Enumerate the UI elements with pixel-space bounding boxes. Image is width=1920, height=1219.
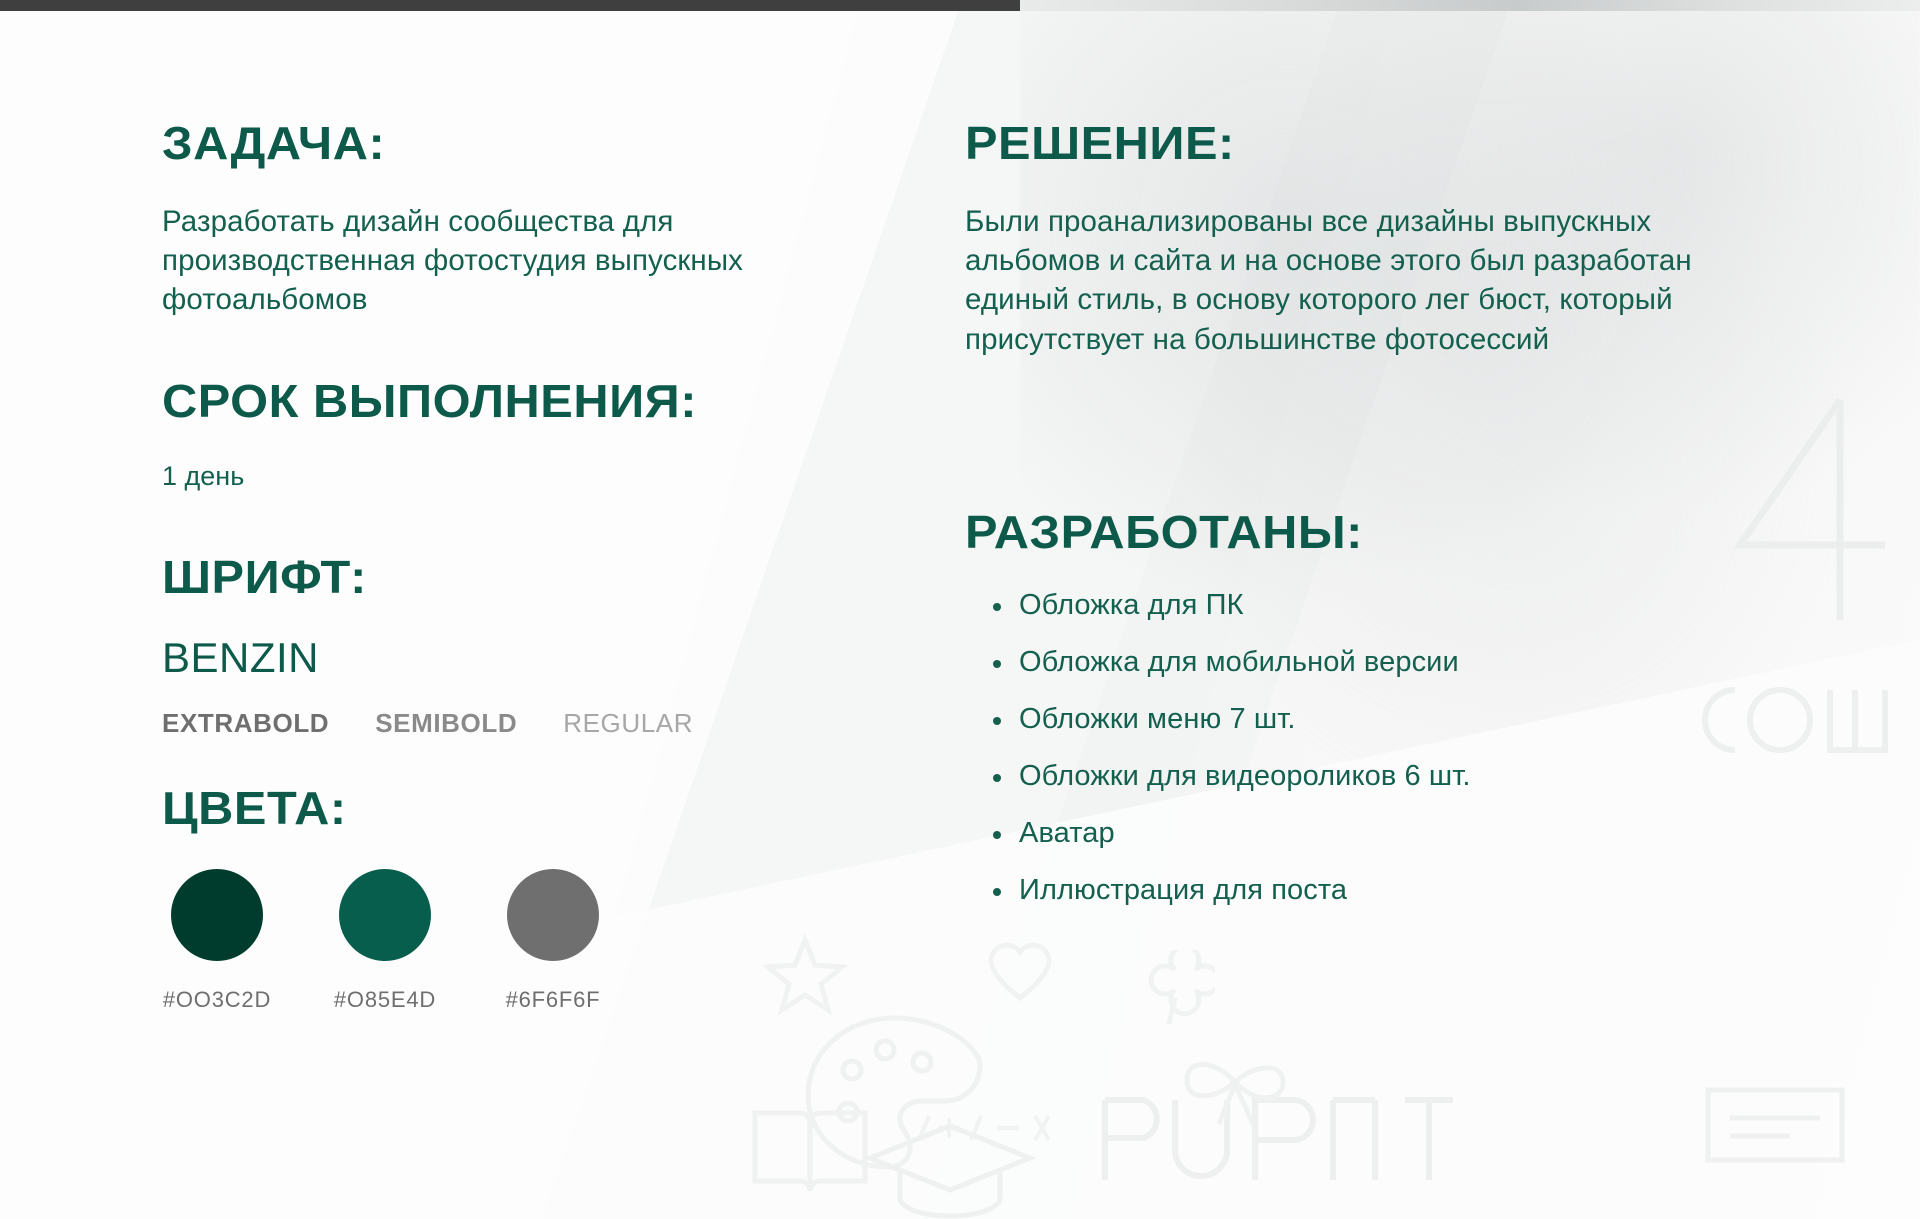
color-hex-label: #O85E4D [330,987,440,1013]
list-item: Обложки для видеороликов 6 шт. [993,762,1755,791]
spacer [162,168,922,202]
deadline-value: 1 день [162,461,922,492]
task-section-title: ЗАДАЧА: [162,120,968,168]
color-hex-label: #6F6F6F [498,987,608,1013]
color-dot-green [339,869,431,961]
list-item: Иллюстрация для поста [993,876,1755,905]
task-description: Разработать дизайн сообщества для произв… [162,202,782,320]
color-swatch: #O85E4D [330,869,440,1013]
spacer [162,492,922,554]
color-hex-label: #OO3C2D [162,987,272,1013]
color-swatch: #6F6F6F [498,869,608,1013]
font-weight-regular: REGULAR [563,708,693,739]
font-weight-semibold: SEMIBOLD [375,708,517,739]
spacer [162,425,922,461]
color-swatches: #OO3C2D #O85E4D #6F6F6F [162,869,922,1013]
right-column: РЕШЕНИЕ: Были проанализированы все дизай… [965,120,1755,933]
spacer [162,739,922,785]
slide-content: ЗАДАЧА: Разработать дизайн сообщества дл… [0,0,1920,1219]
list-item: Обложка для мобильной версии [993,648,1755,677]
list-item: Аватар [993,819,1755,848]
color-dot-grey [507,869,599,961]
font-weight-extrabold: EXTRABOLD [162,708,329,739]
spacer [965,359,1755,509]
font-weights-row: EXTRABOLD SEMIBOLD REGULAR [162,708,922,739]
spacer [162,602,922,634]
slide-background: ЗАДАЧА: Разработать дизайн сообщества дл… [0,0,1920,1219]
spacer [965,168,1755,202]
color-dot-dark-green [171,869,263,961]
font-section-title: ШРИФТ: [162,554,968,602]
spacer [162,320,922,378]
deliverables-section-title: РАЗРАБОТАНЫ: [965,509,1802,557]
font-family-name: BENZIN [162,634,922,682]
solution-section-title: РЕШЕНИЕ: [965,120,1802,168]
colors-section-title: ЦВЕТА: [162,785,968,833]
list-item: Обложки меню 7 шт. [993,705,1755,734]
list-item: Обложка для ПК [993,591,1755,620]
deliverables-list: Обложка для ПК Обложка для мобильной вер… [965,591,1755,905]
deadline-section-title: СРОК ВЫПОЛНЕНИЯ: [162,378,968,426]
color-swatch: #OO3C2D [162,869,272,1013]
left-column: ЗАДАЧА: Разработать дизайн сообщества дл… [162,120,922,1013]
solution-description: Были проанализированы все дизайны выпуск… [965,202,1710,359]
